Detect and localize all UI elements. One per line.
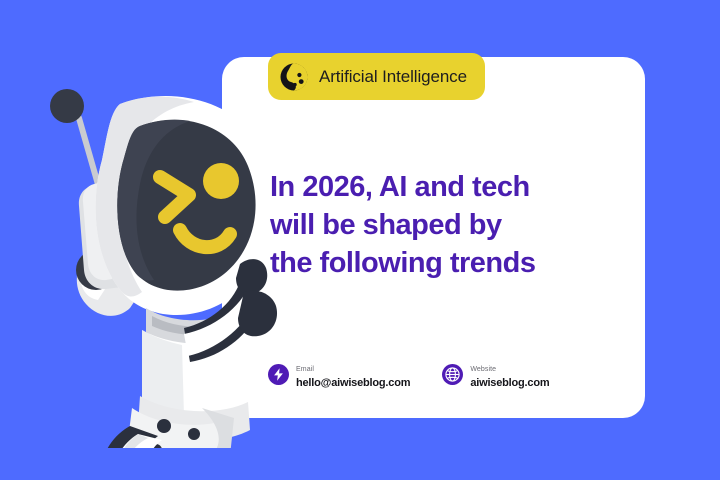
poster-canvas: Artificial Intelligence In 2026, AI and … (0, 0, 720, 480)
globe-icon (442, 364, 463, 385)
contact-website-label: Website (470, 366, 496, 373)
email-zap-icon (268, 364, 289, 385)
category-badge-label: Artificial Intelligence (319, 67, 467, 87)
contact-email-label: Email (296, 366, 314, 373)
contact-website-value: aiwiseblog.com (470, 376, 549, 390)
contact-email[interactable]: Email hello@aiwiseblog.com (268, 358, 410, 390)
contact-email-value: hello@aiwiseblog.com (296, 376, 410, 390)
page-title-line-2: will be shaped by (270, 206, 610, 244)
page-title-line-3: the following trends (270, 244, 610, 282)
contact-email-text: Email hello@aiwiseblog.com (296, 358, 410, 390)
category-badge[interactable]: Artificial Intelligence (268, 53, 485, 100)
page-title-line-1: In 2026, AI and tech (270, 168, 610, 206)
page-title: In 2026, AI and tech will be shaped by t… (270, 168, 610, 282)
robot-round-eye (203, 163, 239, 199)
robot-astronaut-mascot (34, 78, 284, 448)
robot-hand (236, 259, 267, 294)
contact-footer: Email hello@aiwiseblog.com We (268, 358, 608, 390)
contact-website-text: Website aiwiseblog.com (470, 358, 549, 390)
contact-website[interactable]: Website aiwiseblog.com (442, 358, 549, 390)
ai-logo-icon (280, 63, 308, 91)
